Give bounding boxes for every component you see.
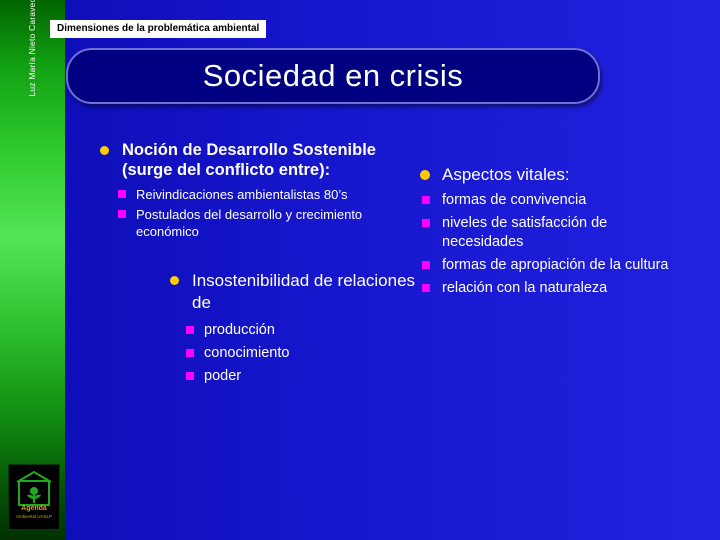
right-heading: Aspectos vitales: [420,165,680,185]
list-item: conocimiento [170,343,420,363]
list-item: niveles de satisfacción de necesidades [420,214,680,252]
list-item-label: poder [204,368,241,384]
page-title: Sociedad en crisis [68,58,598,94]
logo-name: Agenda [21,505,47,512]
bullet-dot-icon [100,146,109,155]
list-item: poder [170,366,420,386]
author-sidebar-text: Luz María Nieto Caraveo [27,0,37,117]
list-item-label: niveles de satisfacción de necesidades [442,215,607,250]
middle-sub-list: producción conocimiento poder [170,320,420,386]
list-item-label: formas de apropiación de la cultura [442,257,669,273]
list-item: relación con la naturaleza [420,279,680,298]
bullet-square-icon [422,219,430,227]
left-content-column: Noción de Desarrollo Sostenible (surge d… [100,140,420,389]
list-item: Reivindicaciones ambientalistas 80’s [100,186,420,203]
plant-house-icon [9,469,59,509]
bullet-square-icon [118,210,126,218]
bullet-square-icon [422,196,430,204]
bullet-square-icon [118,190,126,198]
list-item-label: conocimiento [204,345,289,361]
middle-block: Insostenibilidad de relaciones de produc… [170,270,420,386]
list-item-label: Reivindicaciones ambientalistas 80’s [136,187,348,202]
bullet-square-icon [422,261,430,269]
list-item: formas de apropiación de la cultura [420,256,680,275]
title-plaque: Sociedad en crisis [66,48,600,104]
slide: Luz María Nieto Caraveo Agenda Ambiental… [0,0,720,540]
bullet-dot-icon [420,170,430,180]
left-sub-list: Reivindicaciones ambientalistas 80’s Pos… [100,186,420,240]
bullet-square-icon [186,349,194,357]
bullet-dot-icon [170,276,179,285]
right-sub-list: formas de convivencia niveles de satisfa… [420,191,680,298]
agenda-ambiental-logo: Agenda Ambiental UASLP [8,464,60,530]
list-item: formas de convivencia [420,191,680,210]
slide-kicker: Dimensiones de la problemática ambiental [50,20,266,38]
bullet-square-icon [186,372,194,380]
list-item: producción [170,320,420,340]
list-item-label: Postulados del desarrollo y crecimiento … [136,207,362,239]
list-item: Postulados del desarrollo y crecimiento … [100,206,420,240]
middle-heading: Insostenibilidad de relaciones de [170,270,420,314]
left-heading: Noción de Desarrollo Sostenible (surge d… [100,140,420,180]
bullet-square-icon [422,284,430,292]
right-heading-label: Aspectos vitales: [442,165,570,184]
logo-label: Agenda Ambiental UASLP [9,505,59,521]
middle-heading-label: Insostenibilidad de relaciones de [192,271,415,312]
bullet-square-icon [186,326,194,334]
list-item-label: formas de convivencia [442,192,586,208]
list-item-label: relación con la naturaleza [442,280,607,296]
right-content-column: Aspectos vitales: formas de convivencia … [420,165,680,302]
left-heading-label: Noción de Desarrollo Sostenible (surge d… [122,141,376,179]
list-item-label: producción [204,322,275,338]
logo-sub: Ambiental UASLP [9,513,59,521]
